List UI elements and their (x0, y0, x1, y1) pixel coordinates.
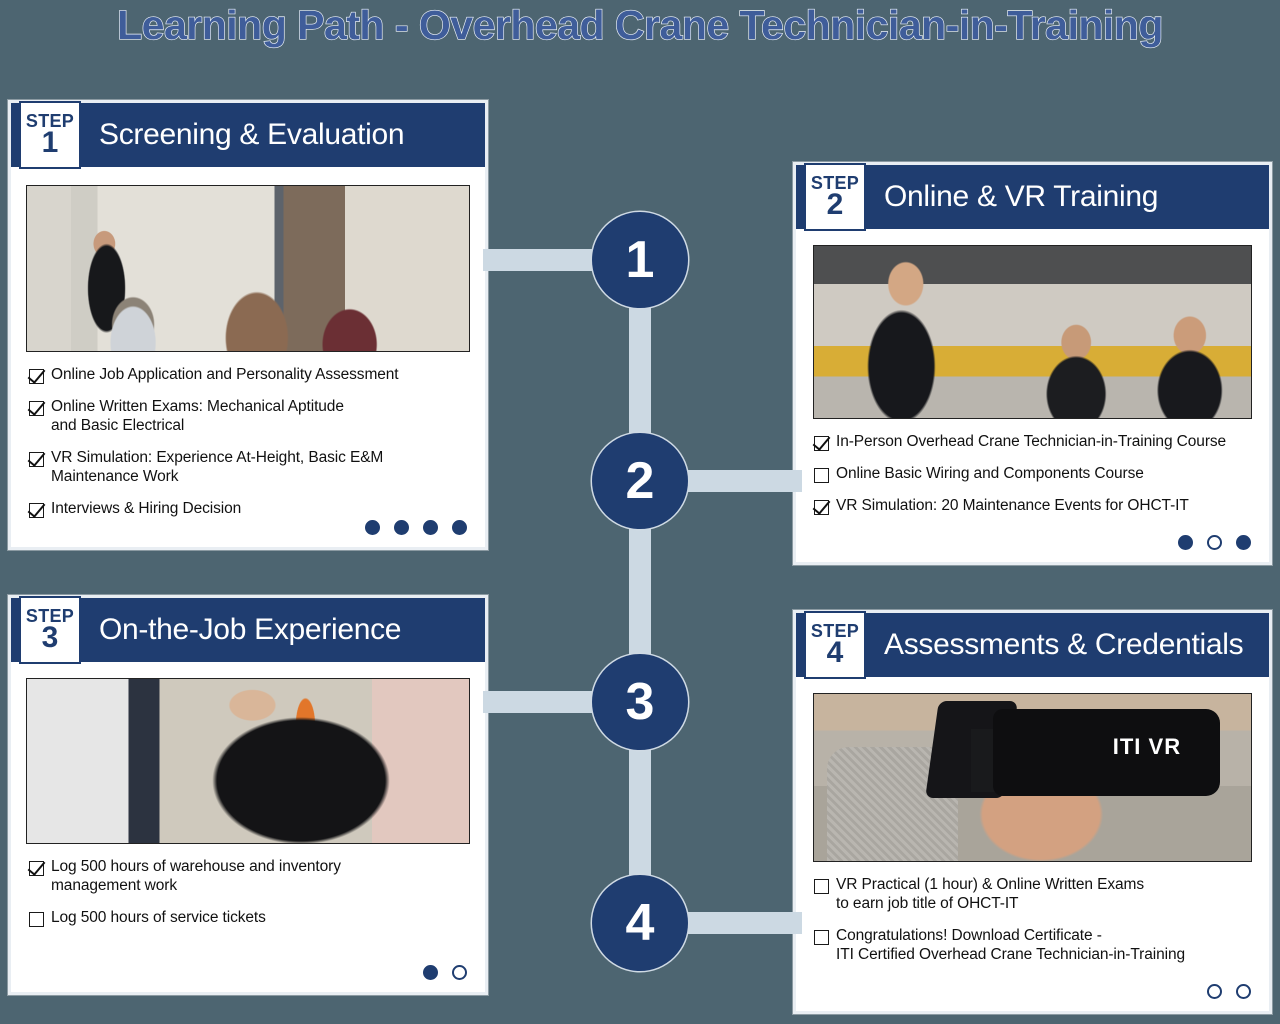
checkbox-checked-icon[interactable] (29, 401, 44, 416)
progress-dot[interactable] (394, 520, 409, 535)
checkbox-checked-icon[interactable] (29, 503, 44, 518)
progress-dots (365, 520, 467, 535)
progress-dot[interactable] (1207, 984, 1222, 999)
list-item[interactable]: Log 500 hours of service tickets (29, 909, 485, 928)
step-badge: STEP 3 (19, 596, 81, 664)
list-item-label: Log 500 hours of service tickets (51, 909, 266, 928)
checkbox-unchecked-icon[interactable] (814, 468, 829, 483)
step-number: 3 (42, 623, 59, 653)
list-item-label: Log 500 hours of warehouse and inventory… (51, 858, 341, 896)
step-number: 1 (42, 128, 59, 158)
vr-headset-photo: ITI VR (813, 693, 1252, 862)
checkbox-checked-icon[interactable] (29, 452, 44, 467)
spine-node-3[interactable]: 3 (592, 654, 688, 750)
card-header: STEP 1 Screening & Evaluation (11, 103, 485, 167)
checkbox-checked-icon[interactable] (814, 500, 829, 515)
checkbox-unchecked-icon[interactable] (29, 912, 44, 927)
list-item-label: Congratulations! Download Certificate - … (836, 927, 1185, 965)
list-item[interactable]: Online Written Exams: Mechanical Aptitud… (29, 398, 485, 436)
progress-dots (1207, 984, 1251, 999)
vr-headset-shape (993, 709, 1220, 796)
checkbox-checked-icon[interactable] (814, 436, 829, 451)
progress-dot[interactable] (1236, 984, 1251, 999)
list-item[interactable]: Interviews & Hiring Decision (29, 500, 485, 519)
checklist: In-Person Overhead Crane Technician-in-T… (796, 419, 1269, 516)
step-card-4[interactable]: STEP 4 Assessments & Credentials ITI VR … (793, 610, 1272, 1014)
checkbox-unchecked-icon[interactable] (814, 879, 829, 894)
list-item-label: Online Basic Wiring and Components Cours… (836, 465, 1144, 484)
step-badge: STEP 1 (19, 101, 81, 169)
list-item[interactable]: Congratulations! Download Certificate - … (814, 927, 1269, 965)
list-item[interactable]: VR Simulation: 20 Maintenance Events for… (814, 497, 1269, 516)
page-title: Learning Path - Overhead Crane Technicia… (0, 2, 1280, 49)
list-item-label: VR Simulation: 20 Maintenance Events for… (836, 497, 1189, 516)
progress-dot[interactable] (423, 965, 438, 980)
connector-node1-to-node2 (629, 300, 651, 445)
progress-dots (423, 965, 467, 980)
photo-scene (27, 679, 469, 843)
list-item[interactable]: Log 500 hours of warehouse and inventory… (29, 858, 485, 896)
connector-node3-to-node4 (629, 742, 651, 887)
card-title: Assessments & Credentials (884, 628, 1243, 662)
photo-scene (814, 246, 1251, 418)
checkbox-unchecked-icon[interactable] (814, 930, 829, 945)
photo-scene (27, 186, 469, 351)
list-item-label: Online Job Application and Personality A… (51, 366, 399, 385)
photo-scene: ITI VR (814, 694, 1251, 861)
list-item-label: Online Written Exams: Mechanical Aptitud… (51, 398, 344, 436)
checkbox-checked-icon[interactable] (29, 861, 44, 876)
list-item-label: In-Person Overhead Crane Technician-in-T… (836, 433, 1226, 452)
list-item-label: VR Practical (1 hour) & Online Written E… (836, 876, 1144, 914)
list-item[interactable]: Online Job Application and Personality A… (29, 366, 485, 385)
card-header: STEP 2 Online & VR Training (796, 165, 1269, 229)
spine-node-1[interactable]: 1 (592, 212, 688, 308)
classroom-training-photo (26, 185, 470, 352)
progress-dot[interactable] (452, 520, 467, 535)
progress-dot[interactable] (452, 965, 467, 980)
card-title: Online & VR Training (884, 180, 1158, 214)
progress-dot[interactable] (1236, 535, 1251, 550)
iti-vr-logo: ITI VR (1113, 734, 1181, 760)
list-item[interactable]: VR Simulation: Experience At-Height, Bas… (29, 449, 485, 487)
step-card-3[interactable]: STEP 3 On-the-Job Experience Log 500 hou… (8, 595, 488, 995)
step-badge: STEP 4 (804, 611, 866, 679)
list-item[interactable]: In-Person Overhead Crane Technician-in-T… (814, 433, 1269, 452)
progress-dot[interactable] (1207, 535, 1222, 550)
list-item-label: VR Simulation: Experience At-Height, Bas… (51, 449, 383, 487)
connector-node2-to-node3 (629, 521, 651, 666)
spine-node-4[interactable]: 4 (592, 875, 688, 971)
step-number: 4 (827, 638, 844, 668)
checkbox-checked-icon[interactable] (29, 369, 44, 384)
progress-dot[interactable] (365, 520, 380, 535)
progress-dot[interactable] (1178, 535, 1193, 550)
list-item[interactable]: VR Practical (1 hour) & Online Written E… (814, 876, 1269, 914)
checklist: Log 500 hours of warehouse and inventory… (11, 844, 485, 928)
spine-node-2[interactable]: 2 (592, 433, 688, 529)
progress-dot[interactable] (423, 520, 438, 535)
card-title: Screening & Evaluation (99, 118, 404, 152)
checklist: VR Practical (1 hour) & Online Written E… (796, 862, 1269, 965)
warehouse-instruction-photo (813, 245, 1252, 419)
checklist: Online Job Application and Personality A… (11, 352, 485, 518)
card-header: STEP 3 On-the-Job Experience (11, 598, 485, 662)
progress-dots (1178, 535, 1251, 550)
tool-case-service-photo (26, 678, 470, 844)
step-badge: STEP 2 (804, 163, 866, 231)
card-header: STEP 4 Assessments & Credentials (796, 613, 1269, 677)
step-card-2[interactable]: STEP 2 Online & VR Training In-Person Ov… (793, 162, 1272, 565)
step-card-1[interactable]: STEP 1 Screening & Evaluation Online Job… (8, 100, 488, 550)
card-title: On-the-Job Experience (99, 613, 401, 647)
step-number: 2 (827, 190, 844, 220)
list-item-label: Interviews & Hiring Decision (51, 500, 241, 519)
list-item[interactable]: Online Basic Wiring and Components Cours… (814, 465, 1269, 484)
